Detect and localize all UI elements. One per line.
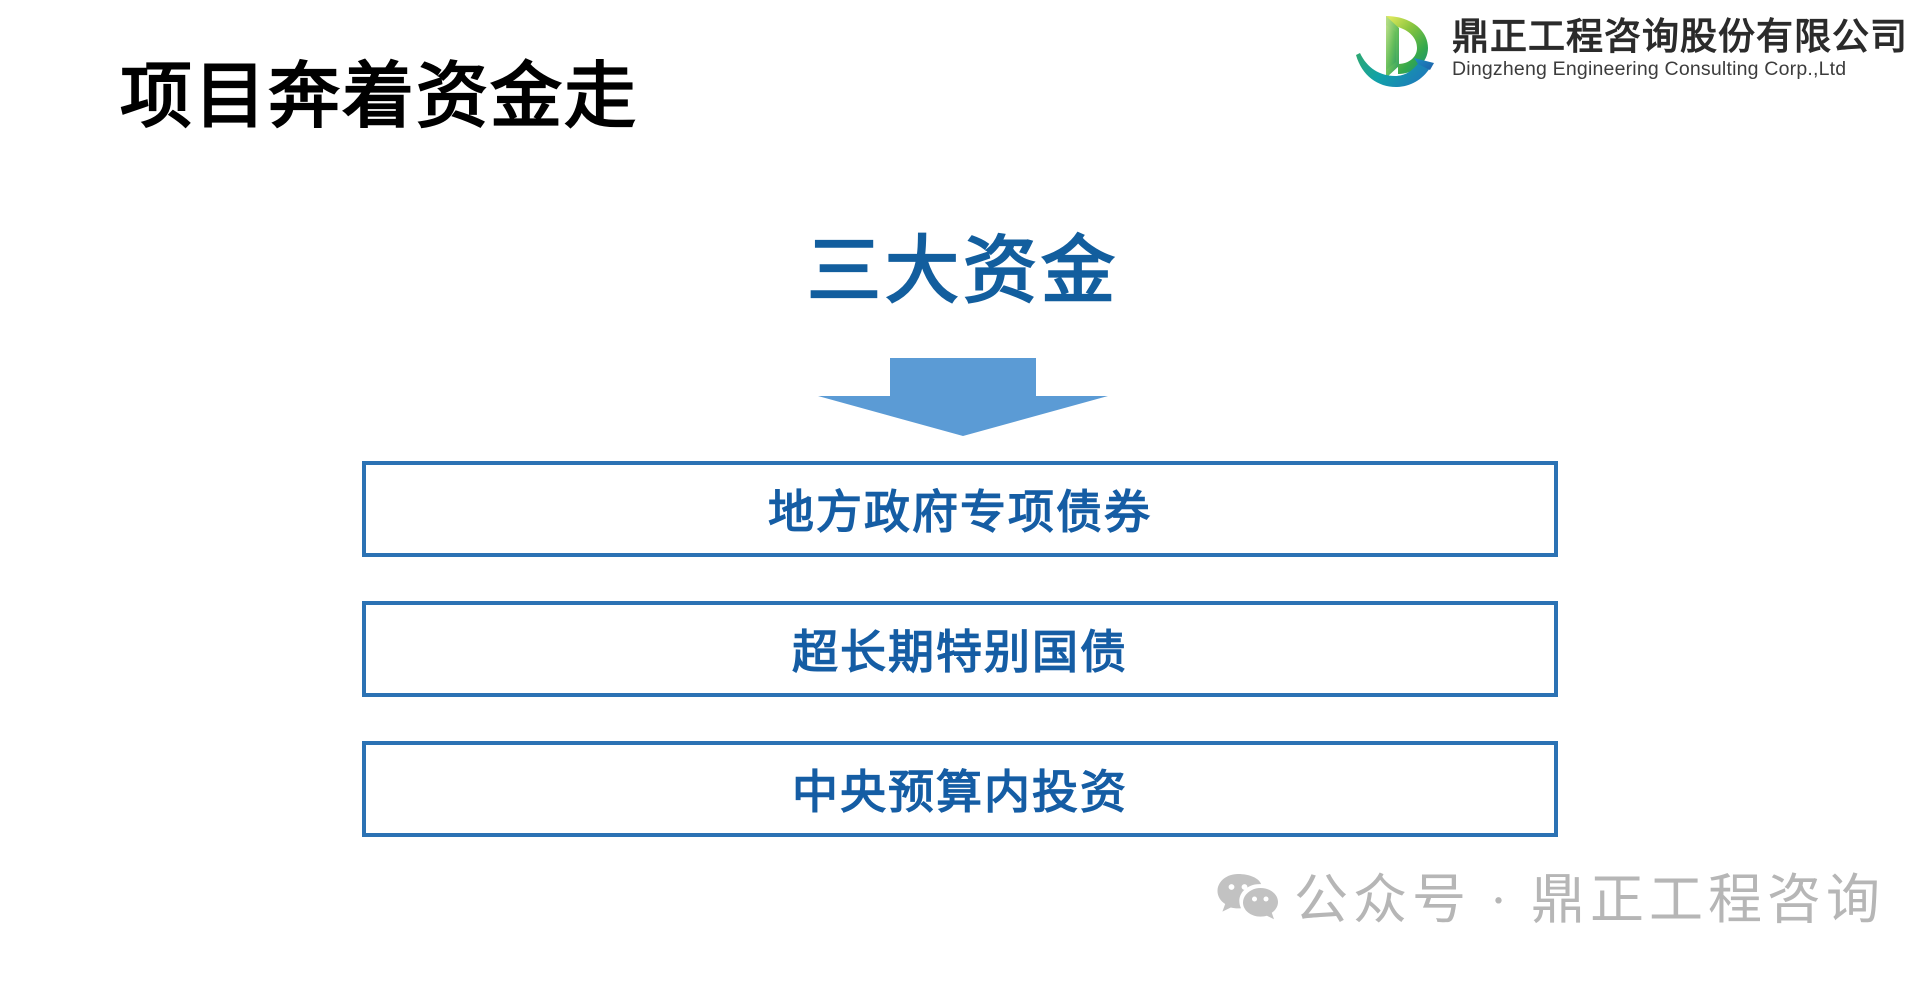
page-title: 项目奔着资金走 (120, 58, 638, 137)
slide-canvas: 鼎正工程咨询股份有限公司 Dingzheng Engineering Consu… (0, 0, 1920, 988)
section-heading: 三大资金 (0, 228, 1920, 313)
funding-box[interactable]: 地方政府专项债券 (362, 461, 1558, 557)
funding-box-list: 地方政府专项债券 超长期特别国债 中央预算内投资 (362, 461, 1558, 837)
company-name-cn: 鼎正工程咨询股份有限公司 (1452, 18, 1908, 55)
dingzheng-d-mark-icon (1352, 8, 1438, 90)
watermark: 公众号 · 鼎正工程咨询 (1216, 872, 1885, 928)
funding-box-label: 地方政府专项债券 (768, 476, 1152, 542)
company-logo: 鼎正工程咨询股份有限公司 Dingzheng Engineering Consu… (1352, 8, 1908, 90)
watermark-text: 公众号 · 鼎正工程咨询 (1294, 873, 1885, 927)
funding-box[interactable]: 中央预算内投资 (362, 741, 1558, 837)
funding-box-label: 超长期特别国债 (792, 616, 1128, 682)
funding-box[interactable]: 超长期特别国债 (362, 601, 1558, 697)
company-logo-text: 鼎正工程咨询股份有限公司 Dingzheng Engineering Consu… (1452, 18, 1908, 80)
section-heading-text: 三大资金 (807, 228, 1119, 313)
wechat-icon (1216, 872, 1278, 928)
company-name-en: Dingzheng Engineering Consulting Corp.,L… (1452, 60, 1908, 80)
arrow-down-icon (818, 358, 1108, 436)
funding-box-label: 中央预算内投资 (792, 756, 1128, 822)
